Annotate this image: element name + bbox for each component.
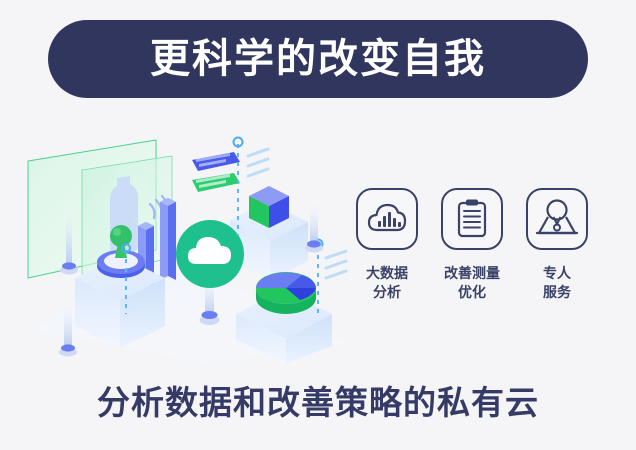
clipboard-icon bbox=[452, 198, 492, 240]
feature-label-service: 专人 服务 bbox=[543, 264, 571, 302]
feature-item-service[interactable]: 专人 服务 bbox=[522, 188, 592, 302]
feature-item-measurement[interactable]: 改善测量 优化 bbox=[437, 188, 507, 302]
page-tagline: 分析数据和改善策略的私有云 bbox=[0, 386, 636, 419]
header-banner: 更科学的改变自我 bbox=[48, 20, 588, 98]
cloud-bar-chart-icon-box bbox=[356, 188, 418, 250]
illustration-stage bbox=[20, 118, 360, 363]
feature-item-big-data[interactable]: 大数据 分析 bbox=[352, 188, 422, 302]
label-badge-blue bbox=[192, 152, 240, 171]
feature-label-big-data: 大数据 分析 bbox=[366, 264, 408, 302]
cloud-bar-chart-icon bbox=[365, 199, 409, 239]
support-agent-icon bbox=[534, 198, 580, 240]
feature-list: 大数据 分析 改善测量 优化 bbox=[352, 188, 592, 338]
banner-title: 更科学的改变自我 bbox=[150, 39, 486, 79]
feature-label-measurement: 改善测量 优化 bbox=[444, 264, 500, 302]
pie-chart-3d bbox=[256, 272, 316, 314]
support-agent-icon-box bbox=[526, 188, 588, 250]
clipboard-icon-box bbox=[441, 188, 503, 250]
label-badge-green bbox=[192, 173, 240, 192]
